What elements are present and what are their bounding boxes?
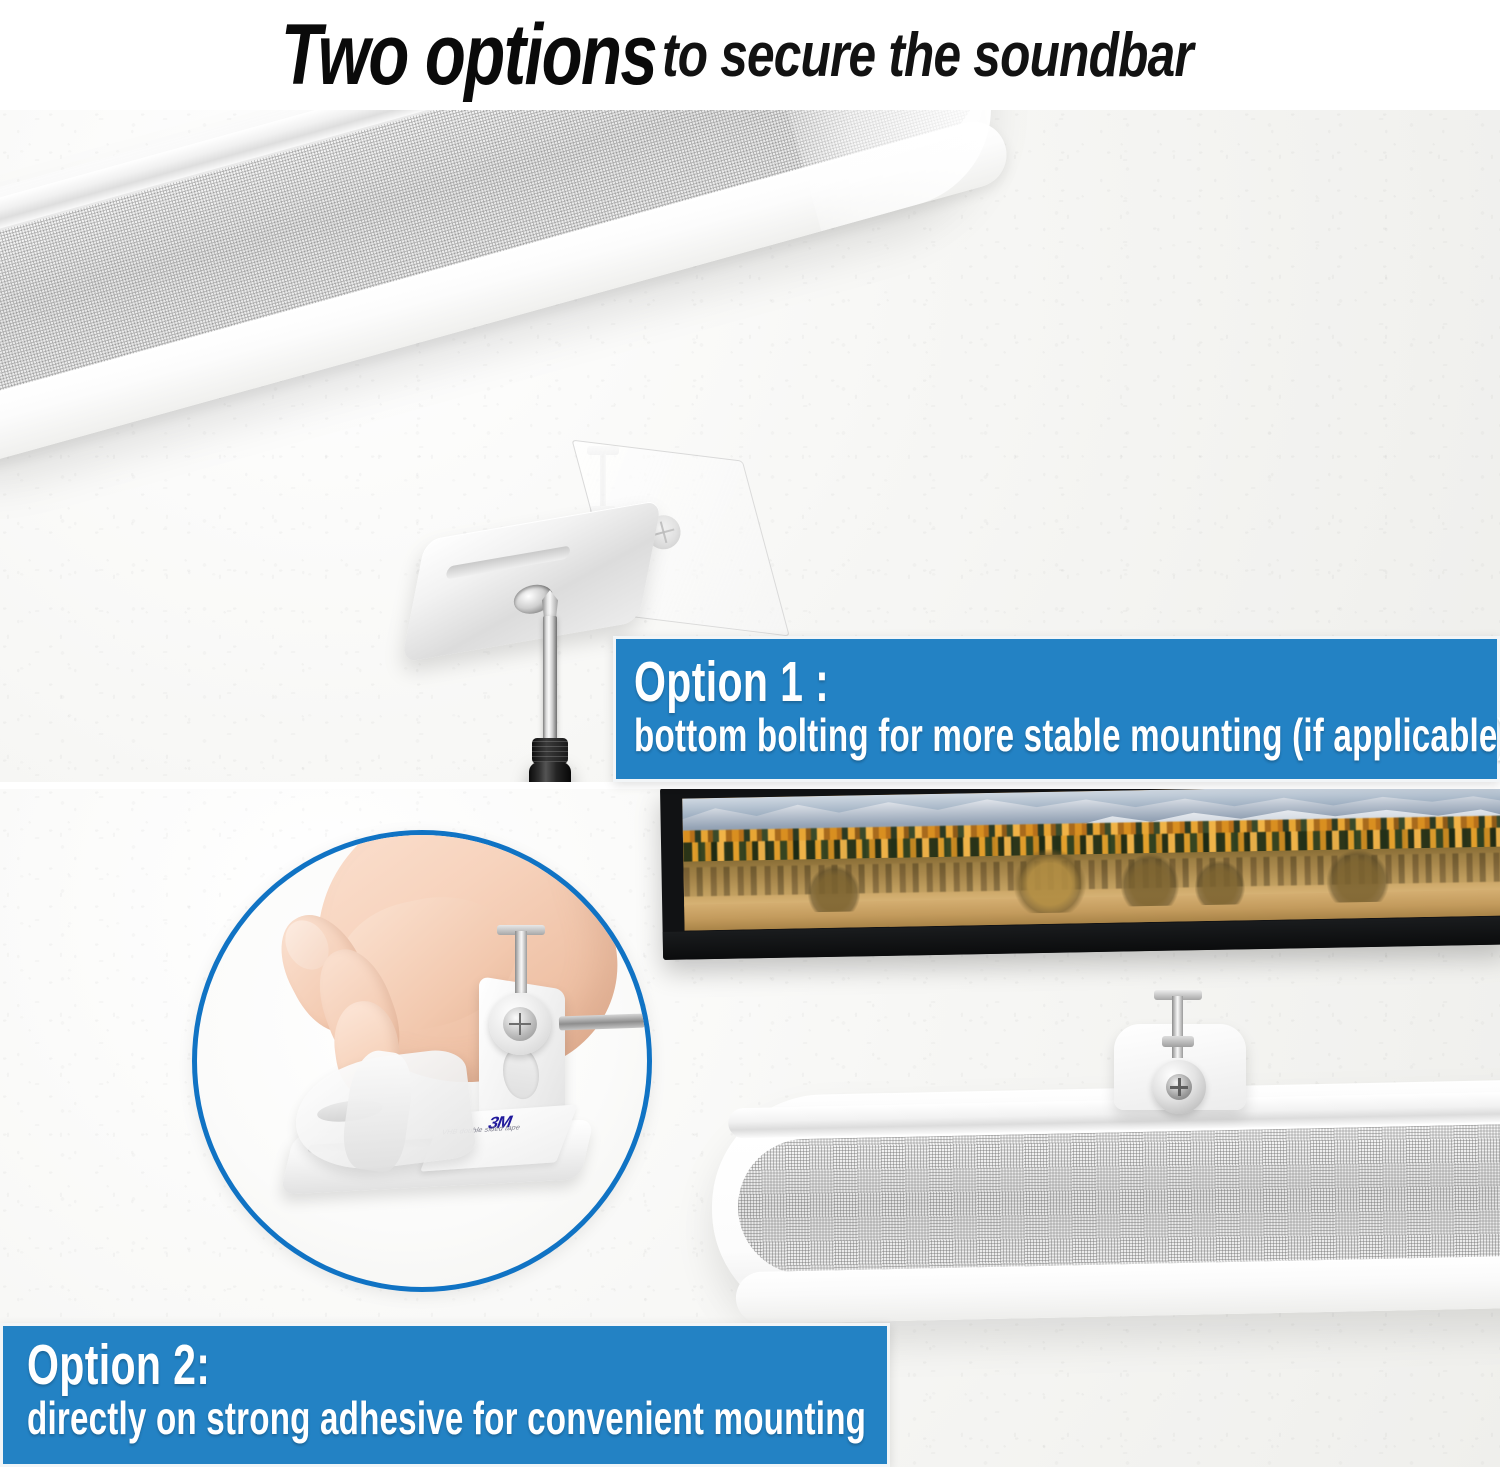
screwdriver-handle — [529, 762, 571, 782]
photo-tree — [807, 866, 860, 913]
television — [660, 788, 1500, 960]
screwdriver-collar — [532, 738, 568, 764]
photo-tree — [1194, 860, 1245, 905]
autumn-landscape-image — [682, 788, 1500, 931]
bracket-rod — [559, 1014, 645, 1031]
photo-tree — [1326, 850, 1389, 903]
phillips-screw-icon — [1166, 1074, 1192, 1100]
headline-light: to secure the soundbar — [662, 20, 1193, 91]
pivot-screw-icon — [503, 1007, 537, 1041]
bracket-bolt — [515, 931, 527, 993]
headline-strong: Two options — [280, 6, 655, 105]
wall-bracket-bolt-collar — [1162, 1036, 1194, 1047]
wall-bracket-bolt — [1172, 996, 1183, 1058]
panel-divider — [0, 782, 1500, 789]
page-title: Two options to secure the soundbar — [0, 0, 1500, 110]
photo-tree — [1013, 849, 1086, 914]
soundbar-grille — [737, 1123, 1500, 1276]
option-1-banner: Option 1 : bottom bolting for more stabl… — [613, 636, 1500, 782]
option-1-title: Option 1 : — [634, 653, 1255, 711]
wall-bracket — [1086, 984, 1276, 1134]
adhesive-peel-inset: 3M VHB double sided tape — [192, 830, 652, 1292]
option-2-subtitle: directly on strong adhesive for convenie… — [27, 1394, 646, 1442]
option-2-banner: Option 2: directly on strong adhesive fo… — [0, 1323, 890, 1467]
photo-tree — [1120, 854, 1179, 907]
screwdriver-shaft — [543, 616, 557, 744]
option-1-subtitle: bottom bolting for more stable mounting … — [634, 711, 1255, 759]
screwdriver — [512, 590, 592, 782]
option-2-title: Option 2: — [27, 1336, 646, 1394]
infographic-page: Two options to secure the soundbar — [0, 0, 1500, 1467]
